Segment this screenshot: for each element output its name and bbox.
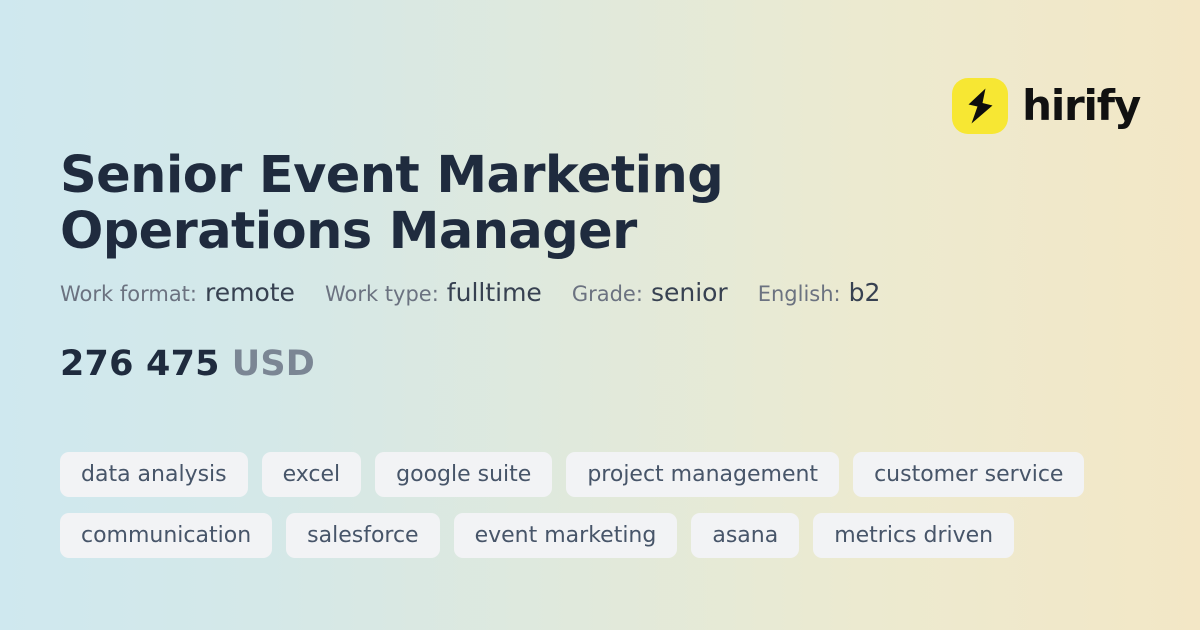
skill-tag[interactable]: excel — [262, 452, 362, 497]
brand-name: hirify — [1022, 85, 1140, 127]
job-card: hirify Senior Event Marketing Operations… — [0, 0, 1200, 630]
meta-value: senior — [651, 278, 728, 307]
skill-tag[interactable]: metrics driven — [813, 513, 1014, 558]
page-title: Senior Event Marketing Operations Manage… — [60, 148, 1030, 260]
salary-currency: USD — [232, 344, 315, 384]
skill-tag[interactable]: salesforce — [286, 513, 439, 558]
salary-amount: 276 475 — [60, 344, 220, 384]
skill-tag[interactable]: google suite — [375, 452, 552, 497]
salary-block: 276 475 USD — [60, 344, 315, 384]
meta-value: b2 — [849, 278, 881, 307]
meta-value: remote — [205, 278, 295, 307]
skill-tag[interactable]: communication — [60, 513, 272, 558]
skill-tag-list: data analysis excel google suite project… — [60, 452, 1145, 558]
brand-logo[interactable]: hirify — [952, 78, 1140, 134]
job-meta-row: Work format: remote Work type: fulltime … — [60, 278, 880, 307]
skill-tag[interactable]: data analysis — [60, 452, 248, 497]
meta-label: Work type: — [325, 282, 439, 306]
meta-label: English: — [758, 282, 841, 306]
skill-tag[interactable]: event marketing — [454, 513, 678, 558]
meta-english: English: b2 — [758, 278, 881, 307]
skill-tag[interactable]: customer service — [853, 452, 1084, 497]
skill-tag[interactable]: asana — [691, 513, 799, 558]
skill-tag[interactable]: project management — [566, 452, 839, 497]
meta-work-type: Work type: fulltime — [325, 278, 542, 307]
meta-work-format: Work format: remote — [60, 278, 295, 307]
lightning-bolt-icon — [952, 78, 1008, 134]
meta-label: Grade: — [572, 282, 643, 306]
meta-value: fulltime — [447, 278, 542, 307]
meta-label: Work format: — [60, 282, 197, 306]
meta-grade: Grade: senior — [572, 278, 728, 307]
